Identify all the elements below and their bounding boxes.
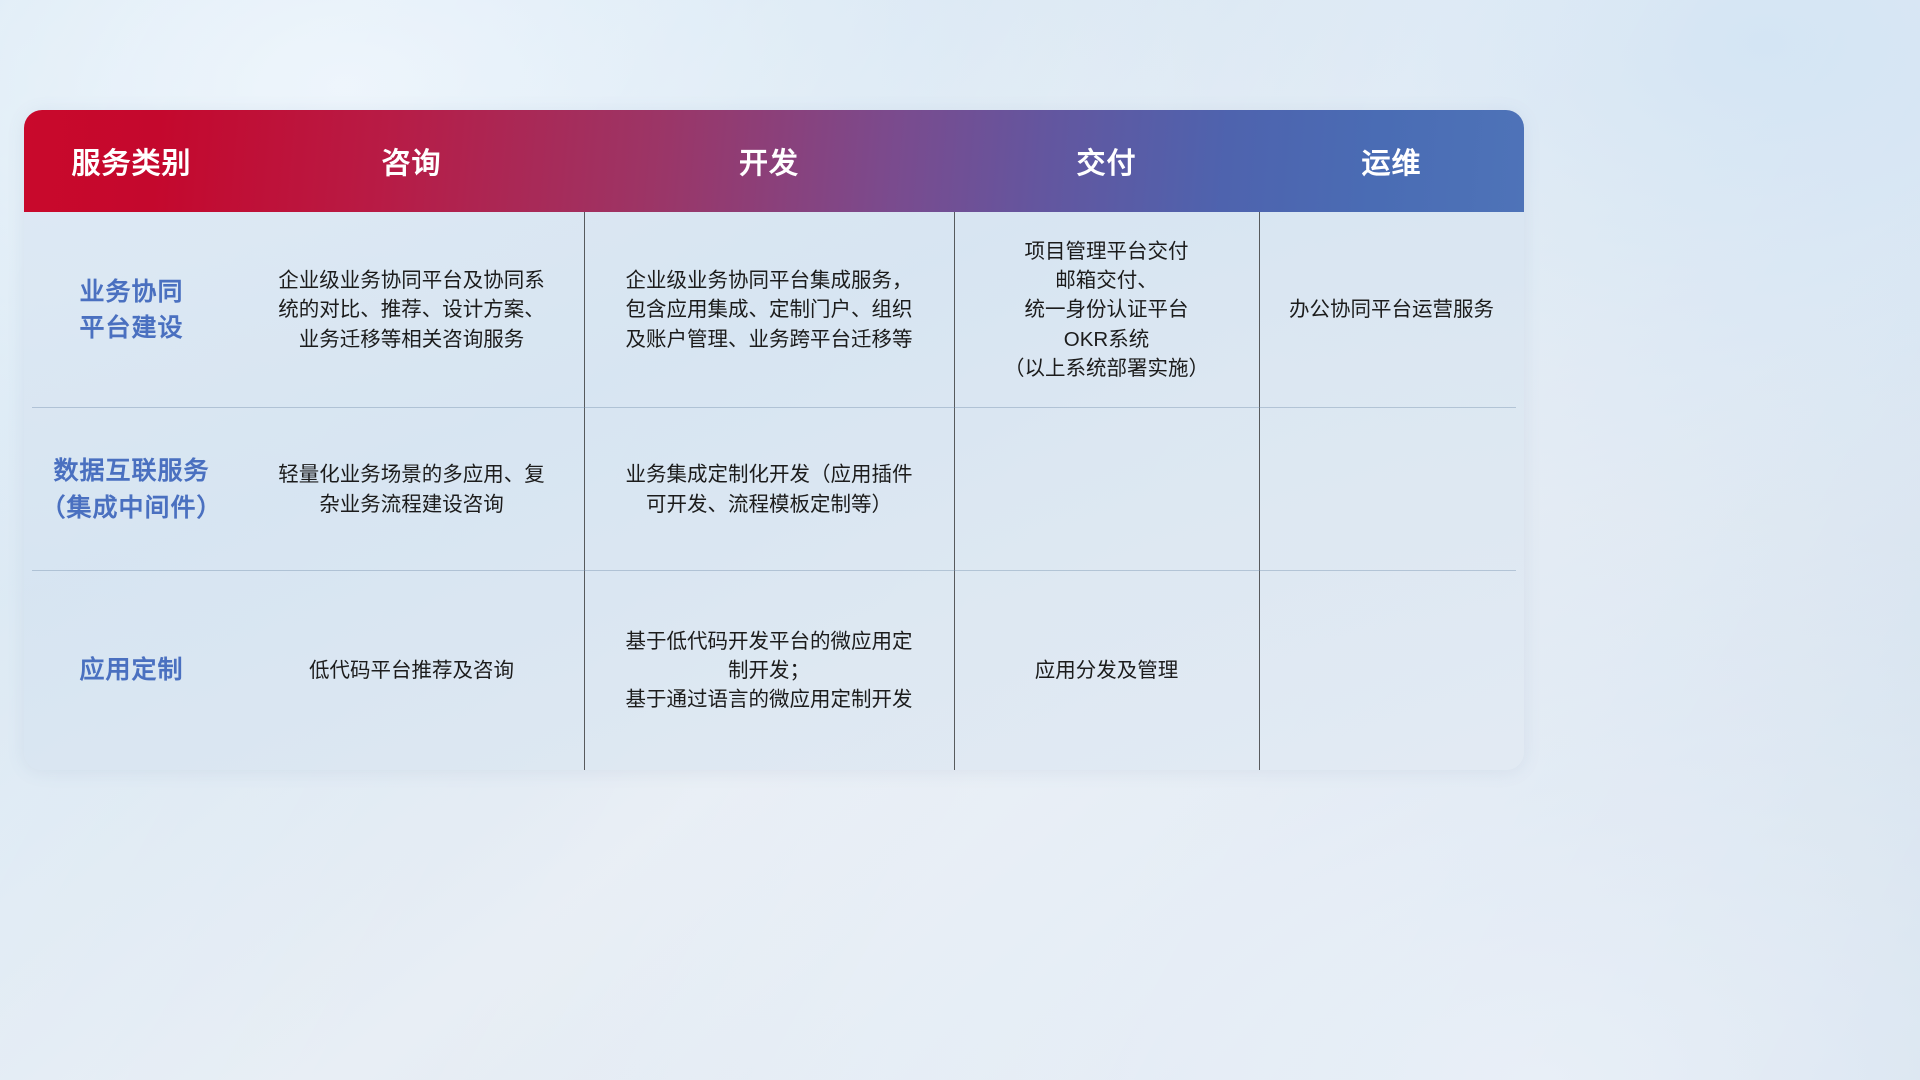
table-row: 业务协同 平台建设 企业级业务协同平台及协同系 统的对比、推荐、设计方案、 业务… [24, 212, 1524, 408]
column-header-development: 开发 [584, 140, 954, 182]
cell-delivery: 应用分发及管理 [954, 571, 1259, 770]
table-row: 应用定制 低代码平台推荐及咨询 基于低代码开发平台的微应用定 制开发； 基于通过… [24, 571, 1524, 770]
column-divider [1259, 571, 1260, 770]
column-divider [954, 571, 955, 770]
column-divider [954, 408, 955, 571]
cell-consulting: 企业级业务协同平台及协同系 统的对比、推荐、设计方案、 业务迁移等相关咨询服务 [239, 212, 584, 408]
column-divider [584, 408, 585, 571]
cell-operations: 办公协同平台运营服务 [1259, 212, 1524, 408]
row-category-label: 业务协同 平台建设 [24, 212, 239, 408]
column-divider [584, 212, 585, 408]
table-body: 业务协同 平台建设 企业级业务协同平台及协同系 统的对比、推荐、设计方案、 业务… [24, 212, 1524, 770]
cell-development: 基于低代码开发平台的微应用定 制开发； 基于通过语言的微应用定制开发 [584, 571, 954, 770]
cell-delivery [954, 408, 1259, 571]
column-header-category: 服务类别 [24, 140, 239, 182]
cell-operations [1259, 408, 1524, 571]
cell-operations [1259, 571, 1524, 770]
column-divider [1259, 212, 1260, 408]
row-category-label: 应用定制 [24, 571, 239, 770]
column-divider [1259, 408, 1260, 571]
service-matrix-table: 服务类别 咨询 开发 交付 运维 业务协同 平台建设 企业级业务协同平台及协同系… [24, 110, 1524, 770]
cell-consulting: 轻量化业务场景的多应用、复 杂业务流程建设咨询 [239, 408, 584, 571]
column-divider [954, 212, 955, 408]
table-row: 数据互联服务 （集成中间件） 轻量化业务场景的多应用、复 杂业务流程建设咨询 业… [24, 408, 1524, 571]
cell-development: 业务集成定制化开发（应用插件 可开发、流程模板定制等） [584, 408, 954, 571]
column-header-consulting: 咨询 [239, 140, 584, 182]
column-divider [584, 571, 585, 770]
cell-development: 企业级业务协同平台集成服务， 包含应用集成、定制门户、组织 及账户管理、业务跨平… [584, 212, 954, 408]
column-header-delivery: 交付 [954, 140, 1259, 182]
cell-consulting: 低代码平台推荐及咨询 [239, 571, 584, 770]
column-header-operations: 运维 [1259, 140, 1524, 182]
cell-delivery: 项目管理平台交付 邮箱交付、 统一身份认证平台 OKR系统 （以上系统部署实施） [954, 212, 1259, 408]
table-header-row: 服务类别 咨询 开发 交付 运维 [24, 110, 1524, 212]
row-category-label: 数据互联服务 （集成中间件） [24, 408, 239, 571]
